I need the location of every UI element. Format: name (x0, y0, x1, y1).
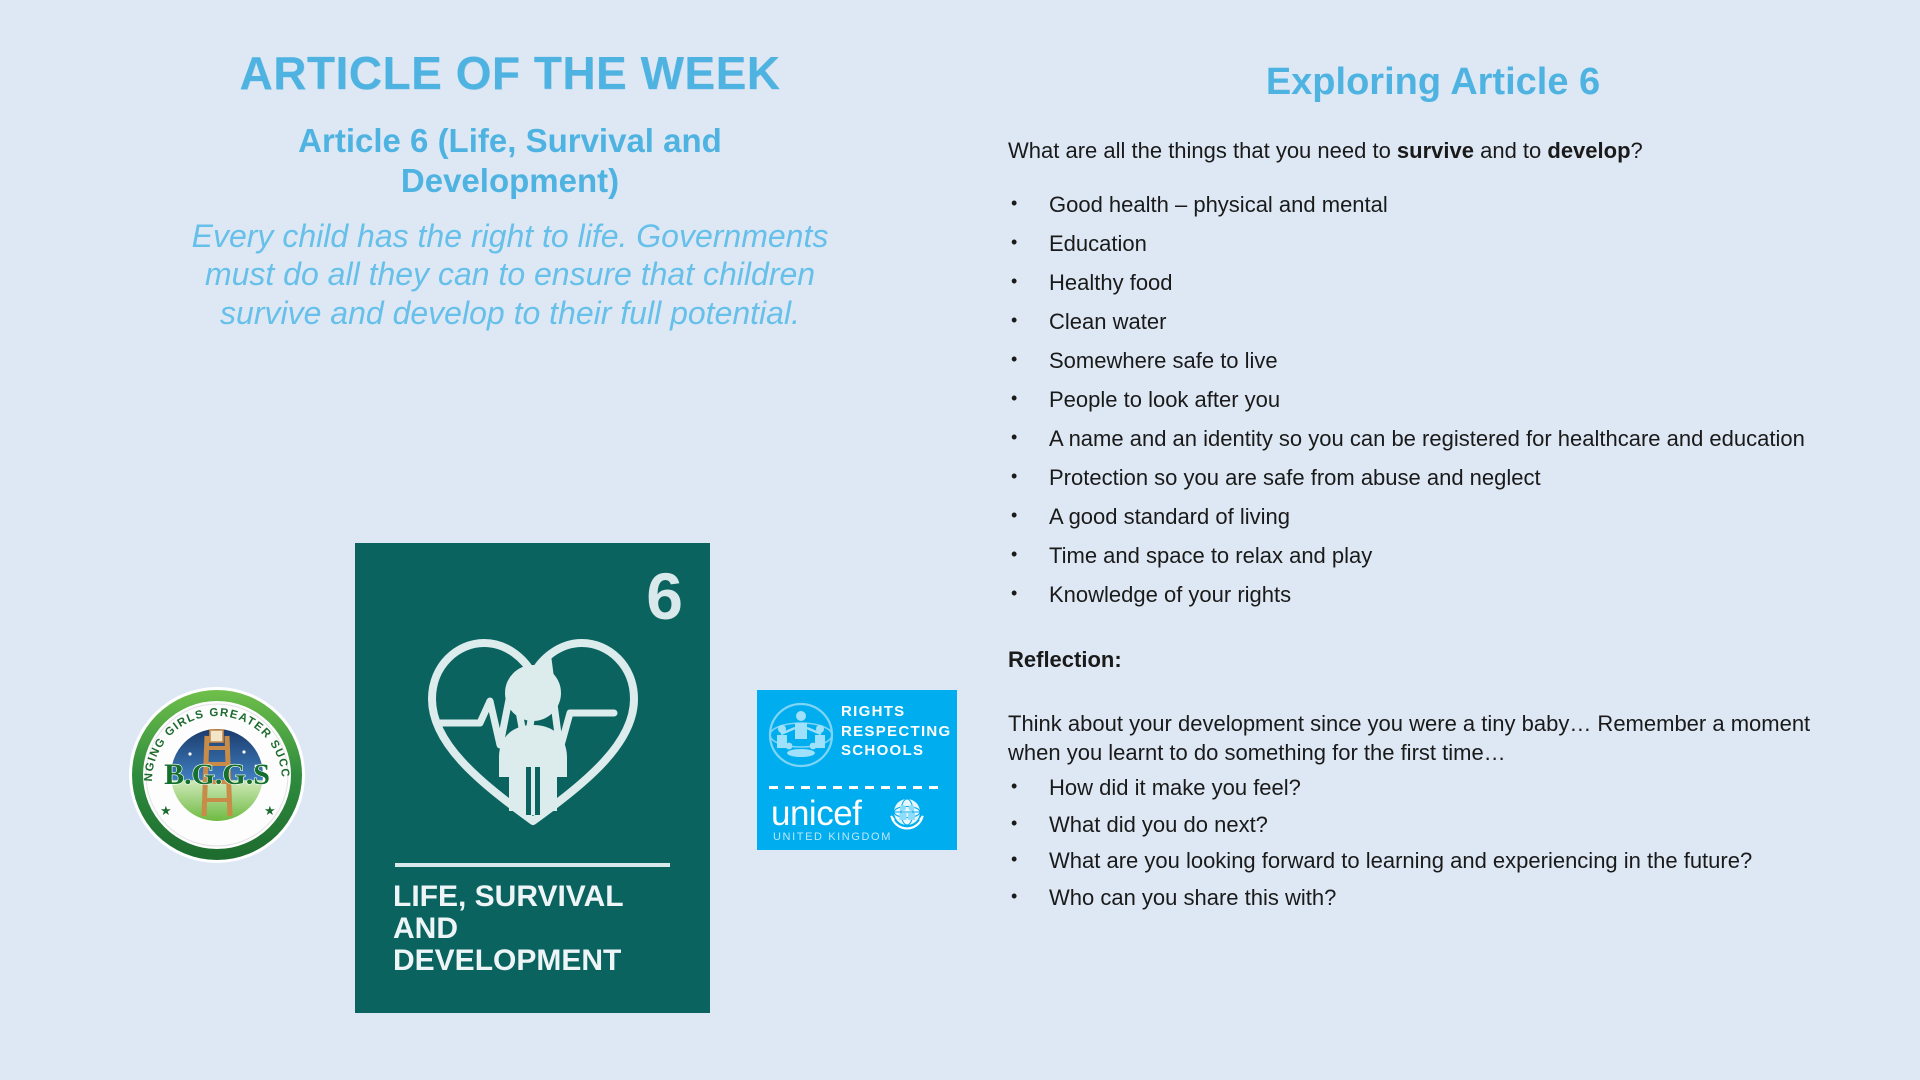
need-list-item-label: Good health – physical and mental (1049, 192, 1388, 217)
bullet-glyph-icon: • (1011, 581, 1017, 606)
badge-top-section: RIGHTS RESPECTING SCHOOLS (757, 690, 957, 782)
reflection-list-item-label: What did you do next? (1049, 812, 1268, 837)
reflection-list-item-label: What are you looking forward to learning… (1049, 848, 1752, 873)
need-list-item-label: Knowledge of your rights (1049, 582, 1291, 607)
bullet-glyph-icon: • (1011, 811, 1017, 836)
intro-bold-survive: survive (1397, 138, 1474, 163)
bullet-glyph-icon: • (1011, 847, 1017, 872)
bullet-glyph-icon: • (1011, 884, 1017, 909)
intro-part-2: and to (1474, 138, 1547, 163)
need-list-item-label: Time and space to relax and play (1049, 543, 1372, 568)
unicef-globe-emblem-icon (888, 794, 926, 832)
school-crest-logo: B.G.G.S BRINGING GIRLS GREATER SUCCESS ★… (128, 686, 306, 864)
rrs-line-1: RIGHTS (841, 702, 952, 722)
left-column: ARTICLE OF THE WEEK Article 6 (Life, Sur… (100, 48, 920, 332)
crest-icon: B.G.G.S BRINGING GIRLS GREATER SUCCESS ★… (128, 686, 306, 864)
crest-initials: B.G.G.S (164, 758, 270, 791)
reflection-list-item: •How did it make you feel? (1008, 774, 1858, 802)
need-list-item-label: A good standard of living (1049, 504, 1290, 529)
need-list-item: •Somewhere safe to live (1008, 347, 1858, 375)
bullet-glyph-icon: • (1011, 347, 1017, 372)
bullet-glyph-icon: • (1011, 774, 1017, 799)
need-list-item: •Clean water (1008, 308, 1858, 336)
article-of-the-week-title: ARTICLE OF THE WEEK (100, 48, 920, 99)
reflection-list-item-label: How did it make you feel? (1049, 775, 1301, 800)
poster-label: LIFE, SURVIVAL AND DEVELOPMENT (393, 881, 686, 977)
need-list-item: •A name and an identity so you can be re… (1008, 425, 1858, 453)
needs-bullet-list: •Good health – physical and mental•Educa… (1008, 191, 1858, 608)
intro-bold-develop: develop (1547, 138, 1630, 163)
article-quote: Every child has the right to life. Gover… (160, 217, 860, 332)
need-list-item-label: A name and an identity so you can be reg… (1049, 426, 1805, 451)
need-list-item-label: Education (1049, 231, 1147, 256)
reflection-bullet-list: •How did it make you feel?•What did you … (1008, 774, 1858, 913)
need-list-item: •Protection so you are safe from abuse a… (1008, 464, 1858, 492)
need-list-item: •A good standard of living (1008, 503, 1858, 531)
reflection-list-item: •What are you looking forward to learnin… (1008, 847, 1858, 875)
need-list-item: •People to look after you (1008, 386, 1858, 414)
intro-question: What are all the things that you need to… (1008, 136, 1858, 166)
unicef-rights-respecting-schools-badge: RIGHTS RESPECTING SCHOOLS unicef (757, 690, 957, 850)
need-list-item: •Knowledge of your rights (1008, 581, 1858, 609)
heart-heartbeat-child-icon (418, 621, 648, 836)
need-list-item-label: Somewhere safe to live (1049, 348, 1278, 373)
intro-part-3: ? (1631, 138, 1643, 163)
reflection-list-item: •Who can you share this with? (1008, 884, 1858, 912)
slide-canvas: ARTICLE OF THE WEEK Article 6 (Life, Sur… (0, 0, 1920, 1080)
bullet-glyph-icon: • (1011, 503, 1017, 528)
rights-respecting-schools-text: RIGHTS RESPECTING SCHOOLS (841, 702, 952, 761)
exploring-article-heading: Exploring Article 6 (1008, 62, 1858, 104)
unicef-country-label: UNITED KINGDOM (773, 831, 892, 843)
need-list-item-label: People to look after you (1049, 387, 1280, 412)
crest-star-left: ★ (160, 803, 172, 818)
reflection-list-item-label: Who can you share this with? (1049, 885, 1336, 910)
reflection-intro-text: Think about your development since you w… (1008, 710, 1858, 767)
bullet-glyph-icon: • (1011, 542, 1017, 567)
need-list-item: •Education (1008, 230, 1858, 258)
reflection-list-item: •What did you do next? (1008, 811, 1858, 839)
need-list-item-label: Clean water (1049, 309, 1166, 334)
poster-divider-rule (395, 863, 670, 867)
need-list-item: •Healthy food (1008, 269, 1858, 297)
rrs-line-3: SCHOOLS (841, 741, 952, 761)
right-column: Exploring Article 6 What are all the thi… (1008, 62, 1858, 921)
article-subtitle: Article 6 (Life, Survival and Developmen… (200, 121, 820, 202)
need-list-item-label: Healthy food (1049, 270, 1173, 295)
children-circle-globe-icon (767, 701, 835, 769)
need-list-item: •Time and space to relax and play (1008, 542, 1858, 570)
need-list-item: •Good health – physical and mental (1008, 191, 1858, 219)
bullet-glyph-icon: • (1011, 191, 1017, 216)
reflection-heading: Reflection: (1008, 646, 1858, 675)
bullet-glyph-icon: • (1011, 425, 1017, 450)
bullet-glyph-icon: • (1011, 269, 1017, 294)
badge-dashed-divider (769, 786, 945, 789)
intro-part-1: What are all the things that you need to (1008, 138, 1397, 163)
bullet-glyph-icon: • (1011, 230, 1017, 255)
rrs-line-2: RESPECTING (841, 722, 952, 742)
bullet-glyph-icon: • (1011, 308, 1017, 333)
unicef-wordmark: unicef (771, 796, 861, 831)
bullet-glyph-icon: • (1011, 464, 1017, 489)
poster-number: 6 (646, 563, 682, 629)
crest-star-right: ★ (264, 803, 276, 818)
need-list-item-label: Protection so you are safe from abuse an… (1049, 465, 1541, 490)
article-6-poster: 6 LIFE, SURVIVAL AND DEVELOPMENT (355, 543, 710, 1013)
bullet-glyph-icon: • (1011, 386, 1017, 411)
